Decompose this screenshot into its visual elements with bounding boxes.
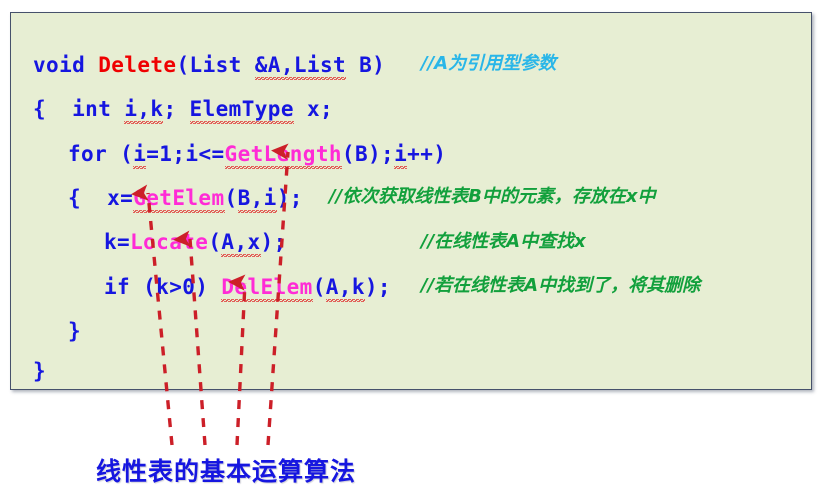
code-token: GetElem xyxy=(133,186,224,210)
code-token: k= xyxy=(104,230,130,254)
code-token: ( xyxy=(208,230,221,254)
comment-reference-param: //A为引用型参数 xyxy=(421,55,556,73)
code-token: A,x xyxy=(221,230,260,254)
code-line-1: void Delete(List &A,List B) xyxy=(33,55,385,76)
code-token: } xyxy=(33,359,46,383)
comment-locate-x: //在线性表A中查找x xyxy=(421,233,586,251)
code-token: ElemType xyxy=(190,97,294,121)
code-token: i,k xyxy=(124,97,163,121)
code-token: A,k xyxy=(326,275,365,299)
code-token: ); xyxy=(365,275,391,299)
code-line-8: } xyxy=(33,361,46,382)
code-token: void xyxy=(33,53,98,77)
code-token: { int xyxy=(33,97,124,121)
slide-canvas: void Delete(List &A,List B) { int i,k; E… xyxy=(0,0,823,502)
code-token: &A,List xyxy=(255,53,346,77)
code-token: B) xyxy=(346,53,385,77)
code-panel: void Delete(List &A,List B) { int i,k; E… xyxy=(10,12,812,390)
code-token: ); xyxy=(277,186,303,210)
code-line-2: { int i,k; ElemType x; xyxy=(33,99,333,120)
code-token: i xyxy=(133,142,146,166)
code-line-7: } xyxy=(68,321,81,342)
code-token: for ( xyxy=(68,142,133,166)
code-token: B,i xyxy=(238,186,277,210)
code-token: (List xyxy=(176,53,254,77)
code-token: DelElem xyxy=(221,275,312,299)
code-token: ( xyxy=(313,275,326,299)
code-token: ); xyxy=(261,230,287,254)
code-token: } xyxy=(68,319,81,343)
code-line-3: for (i=1;i<=GetLength(B);i++) xyxy=(68,144,446,165)
comment-get-elements: //依次获取线性表B中的元素，存放在x中 xyxy=(329,188,655,206)
code-line-5: k=Locate(A,x); xyxy=(104,232,287,253)
code-token: if (k>0) xyxy=(104,275,221,299)
code-token: i xyxy=(394,142,407,166)
code-token: { x= xyxy=(68,186,133,210)
code-token: ( xyxy=(225,186,238,210)
code-token: =1;i<= xyxy=(146,142,224,166)
code-token: ; xyxy=(163,97,189,121)
code-token: (B); xyxy=(342,142,394,166)
code-token: Delete xyxy=(98,53,176,77)
caption-label: 线性表的基本运算算法 xyxy=(96,452,356,488)
code-line-6: if (k>0) DelElem(A,k); xyxy=(104,277,391,298)
code-line-4: { x=GetElem(B,i); xyxy=(68,188,303,209)
code-token: ++) xyxy=(407,142,446,166)
comment-delete-found: //若在线性表A中找到了，将其删除 xyxy=(421,277,700,295)
code-token: Locate xyxy=(130,230,208,254)
code-token: x; xyxy=(294,97,333,121)
code-token: GetLength xyxy=(225,142,342,166)
